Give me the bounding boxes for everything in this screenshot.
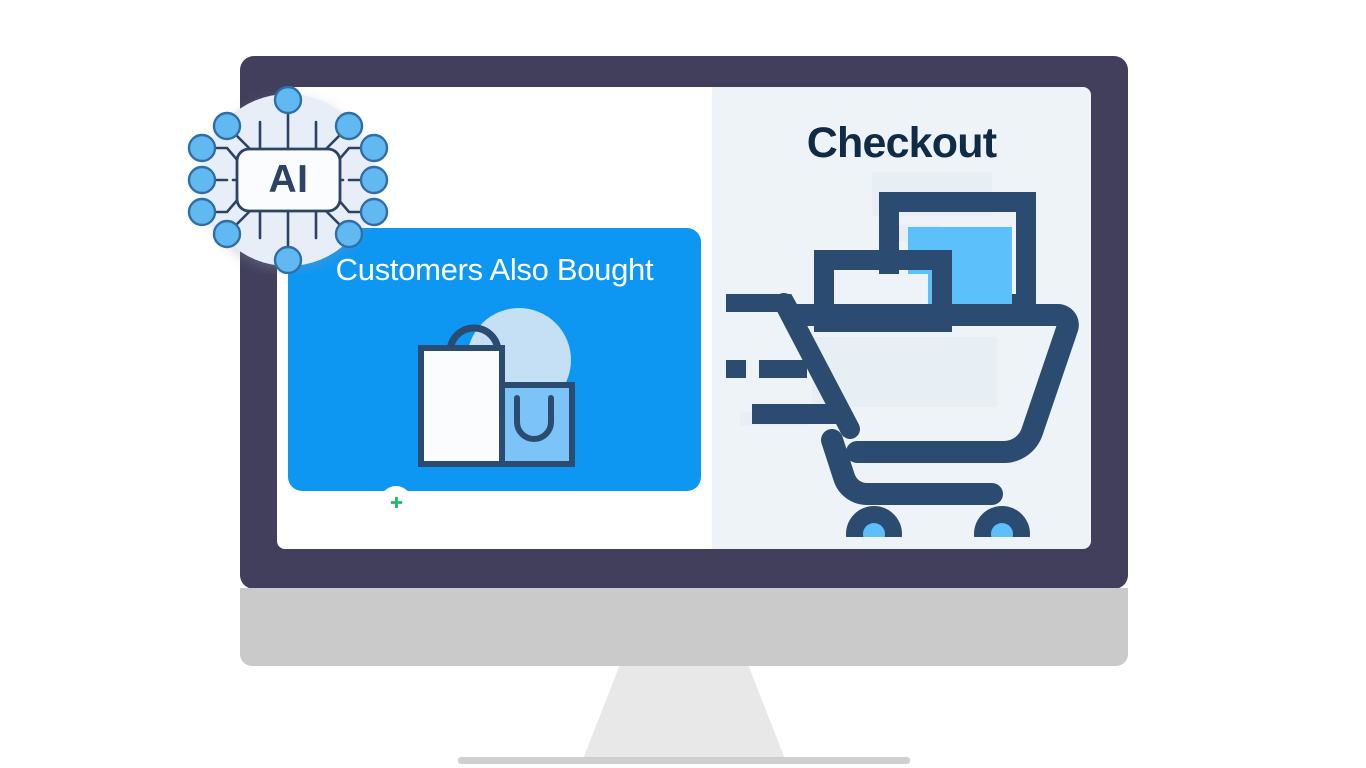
ai-chip-icon[interactable]: AI: [187, 86, 389, 274]
node: [361, 135, 387, 161]
illustration-canvas: Customers Also Bought: [0, 0, 1366, 768]
node: [336, 221, 362, 247]
node: [214, 113, 240, 139]
checkout-panel: Checkout: [712, 87, 1091, 549]
add-to-cart-badge[interactable]: [380, 486, 412, 518]
ai-chip-label: AI: [237, 149, 340, 211]
shopping-bags-icon: [388, 300, 598, 475]
monitor-screen: Customers Also Bought: [277, 87, 1091, 549]
monitor-chin: [240, 588, 1128, 666]
node: [361, 199, 387, 225]
node: [361, 167, 387, 193]
checkout-title: Checkout: [712, 119, 1091, 168]
plus-icon: [388, 494, 405, 511]
node: [189, 135, 215, 161]
monitor-stand: [583, 666, 785, 759]
node: [189, 167, 215, 193]
node: [275, 87, 301, 113]
node: [189, 199, 215, 225]
shopping-cart-icon: [726, 182, 1086, 537]
monitor-base: [458, 757, 910, 764]
node: [275, 247, 301, 273]
node: [336, 113, 362, 139]
node: [214, 221, 240, 247]
